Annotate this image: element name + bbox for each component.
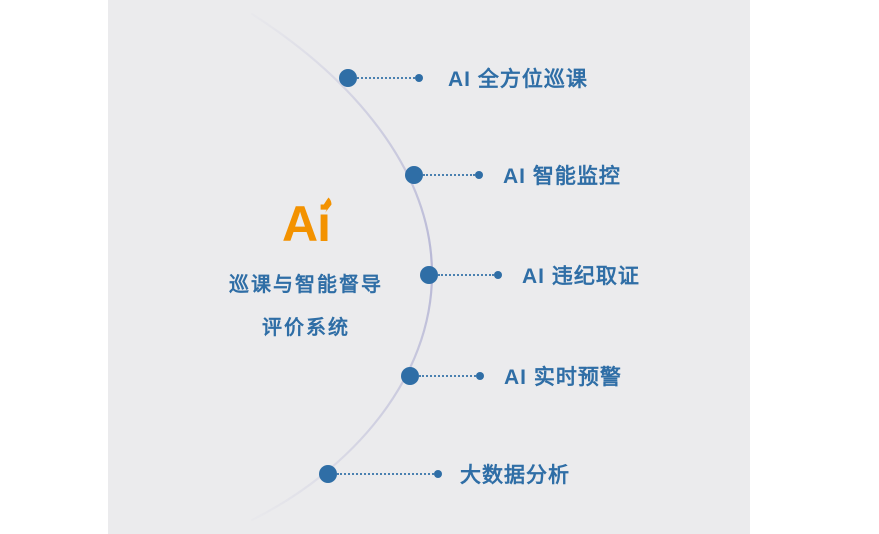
node-label[interactable]: AI 全方位巡课: [448, 63, 588, 93]
node-label[interactable]: AI 智能监控: [503, 160, 621, 190]
infographic-canvas: Ai 巡课与智能督导 评价系统 AI 全方位巡课AI 智能监控AI 违纪取证AI…: [0, 0, 879, 534]
node-anchor-dot[interactable]: [420, 266, 438, 284]
node-label[interactable]: AI 实时预警: [504, 361, 622, 391]
node-connector-line: [337, 473, 434, 475]
logo-title-line-1: 巡课与智能督导: [186, 268, 426, 297]
logo-block: Ai 巡课与智能督导 评价系统: [186, 196, 426, 340]
logo-title-line-2: 评价系统: [186, 311, 426, 340]
node-endpoint-dot[interactable]: [476, 372, 484, 380]
node-endpoint-dot[interactable]: [475, 171, 483, 179]
node-connector-line: [423, 174, 475, 176]
logo-mark: Ai: [186, 196, 426, 252]
node-anchor-dot[interactable]: [319, 465, 337, 483]
node-anchor-dot[interactable]: [401, 367, 419, 385]
node-connector-line: [419, 375, 476, 377]
node-connector-line: [438, 274, 494, 276]
node-label[interactable]: AI 违纪取证: [522, 260, 640, 290]
node-label[interactable]: 大数据分析: [460, 459, 570, 489]
node-connector-line: [357, 77, 415, 79]
node-anchor-dot[interactable]: [405, 166, 423, 184]
flame-accent-icon: [312, 196, 334, 222]
node-endpoint-dot[interactable]: [434, 470, 442, 478]
node-anchor-dot[interactable]: [339, 69, 357, 87]
node-endpoint-dot[interactable]: [415, 74, 423, 82]
node-endpoint-dot[interactable]: [494, 271, 502, 279]
